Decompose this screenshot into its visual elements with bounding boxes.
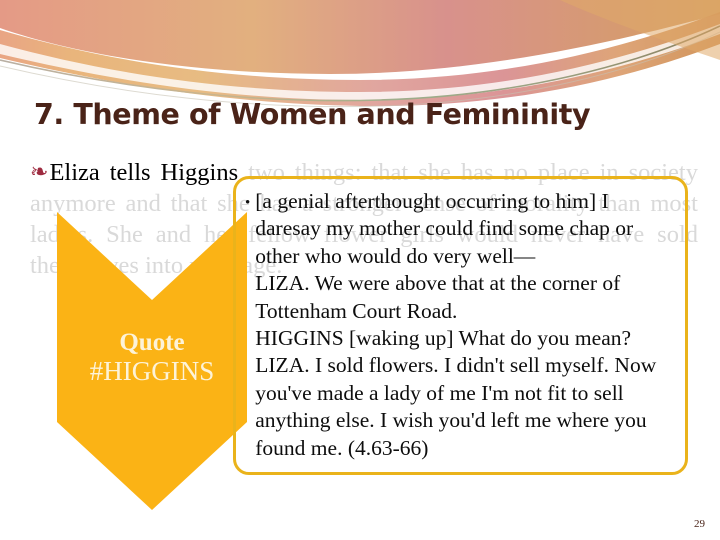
swoosh-band-upper [0, 0, 720, 74]
swoosh-filament [0, 26, 720, 101]
quote-line: [a genial afterthought occurring to him]… [255, 188, 677, 270]
quote-line: LIZA. We were above that at the corner o… [255, 270, 677, 325]
quote-line: LIZA. I sold flowers. I didn't sell myse… [255, 352, 677, 462]
body-paragraph-lead: Eliza tells Higgins [49, 159, 238, 186]
swoosh-white-sliver [0, 24, 720, 100]
swoosh-right-wedge [560, 0, 720, 60]
chevron-shape [57, 212, 247, 510]
page-number: 29 [694, 518, 705, 530]
chevron-svg [57, 212, 247, 510]
page-title: 7. Theme of Women and Femininity [34, 98, 694, 131]
presentation-slide: 7. Theme of Women and Femininity ❧Eliza … [0, 0, 720, 540]
quote-content: • [a genial afterthought occurring to hi… [237, 184, 685, 474]
swoosh-filament-secondary [0, 32, 720, 107]
header-decoration [0, 0, 720, 112]
swoosh-band-lower [0, 12, 720, 106]
header-swoosh-svg [0, 0, 720, 112]
chevron-polygon [57, 212, 247, 510]
quote-text: [a genial afterthought occurring to him]… [255, 188, 677, 462]
quote-line: HIGGINS [waking up] What do you mean? [255, 325, 677, 352]
fleuron-bullet-icon: ❧ [30, 159, 48, 184]
quote-bullet-icon: • [245, 188, 250, 217]
